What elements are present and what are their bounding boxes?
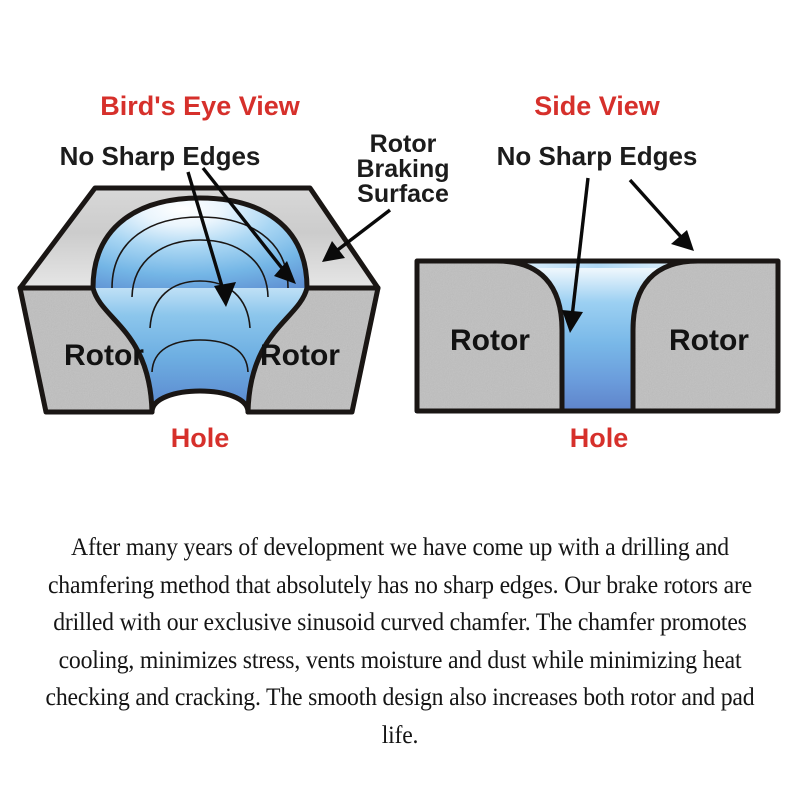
- side-view-rotor-label-left: Rotor: [450, 324, 530, 357]
- bird-eye-view-title: Bird's Eye View: [100, 91, 301, 121]
- diagram-page: Bird's Eye View No Sharp Edges Rotor Bra…: [0, 0, 800, 800]
- bird-eye-rotor-label-right: Rotor: [260, 339, 340, 372]
- arrow-icon-side-no-sharp-edges-right: [630, 180, 694, 251]
- caption-block: After many years of development we have …: [8, 528, 792, 753]
- bird-eye-view-panel: Bird's Eye View No Sharp Edges Rotor Bra…: [20, 91, 450, 453]
- bird-eye-hole-label: Hole: [171, 423, 230, 453]
- side-view-rotor-label-right: Rotor: [669, 324, 749, 357]
- side-view-panel: Side View No Sharp Edges Rotor Rotor Hol…: [415, 91, 780, 453]
- caption-text: After many years of development we have …: [35, 528, 764, 753]
- bird-eye-rotor-label-left: Rotor: [64, 339, 144, 372]
- rotor-braking-surface-label-line3: Surface: [357, 180, 449, 208]
- side-view-hole-label: Hole: [570, 423, 629, 453]
- side-view-no-sharp-edges-label: No Sharp Edges: [497, 141, 698, 171]
- bird-eye-no-sharp-edges-label: No Sharp Edges: [60, 141, 261, 171]
- rotor-braking-surface-label-line1: Rotor: [370, 130, 437, 158]
- rotor-braking-surface-label-line2: Braking: [356, 155, 449, 183]
- side-view-title: Side View: [534, 91, 661, 121]
